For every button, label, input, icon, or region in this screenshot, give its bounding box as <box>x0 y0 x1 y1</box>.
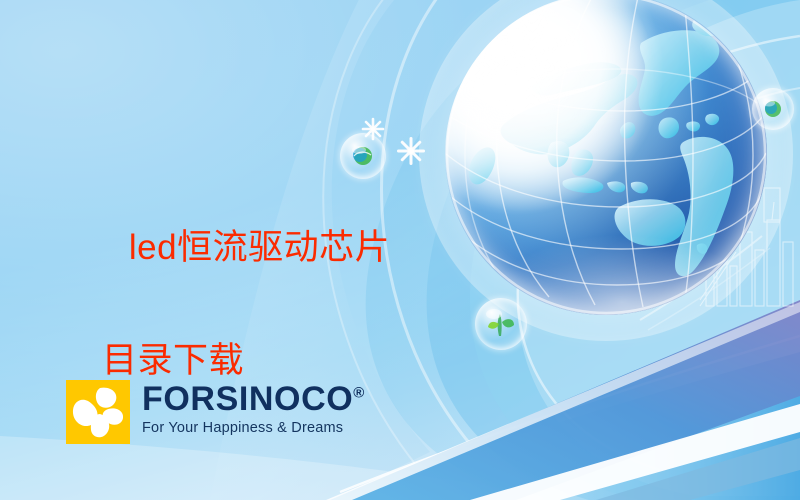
logo-text-block: FORSINOCO® For Your Happiness & Dreams <box>142 380 365 436</box>
sparkle-burst-icon <box>396 136 426 166</box>
globe-rim-light <box>445 0 767 315</box>
registered-trademark-symbol: ® <box>353 385 365 402</box>
bubble-leaf-icon <box>475 298 527 350</box>
company-logo: FORSINOCO® For Your Happiness & Dreams <box>66 380 365 444</box>
headline-text: led恒流驱动芯片 目录下载 <box>88 163 418 500</box>
flower-petals <box>66 380 130 444</box>
earth-globe-illustration <box>445 0 767 315</box>
small-globe-icon <box>752 88 794 130</box>
green-sprout-icon <box>475 298 527 350</box>
banner-image: led恒流驱动芯片 目录下载 FORSINOCO® For Your Happi… <box>0 0 800 500</box>
logo-tagline: For Your Happiness & Dreams <box>142 420 365 436</box>
logo-wordmark-text: FORSINOCO <box>142 380 353 418</box>
headline-line-1: led恒流驱动芯片 <box>129 228 390 267</box>
four-petal-flower-icon <box>66 380 130 444</box>
logo-wordmark: FORSINOCO® <box>142 382 365 416</box>
bubble-globe-icon-right <box>752 88 794 130</box>
